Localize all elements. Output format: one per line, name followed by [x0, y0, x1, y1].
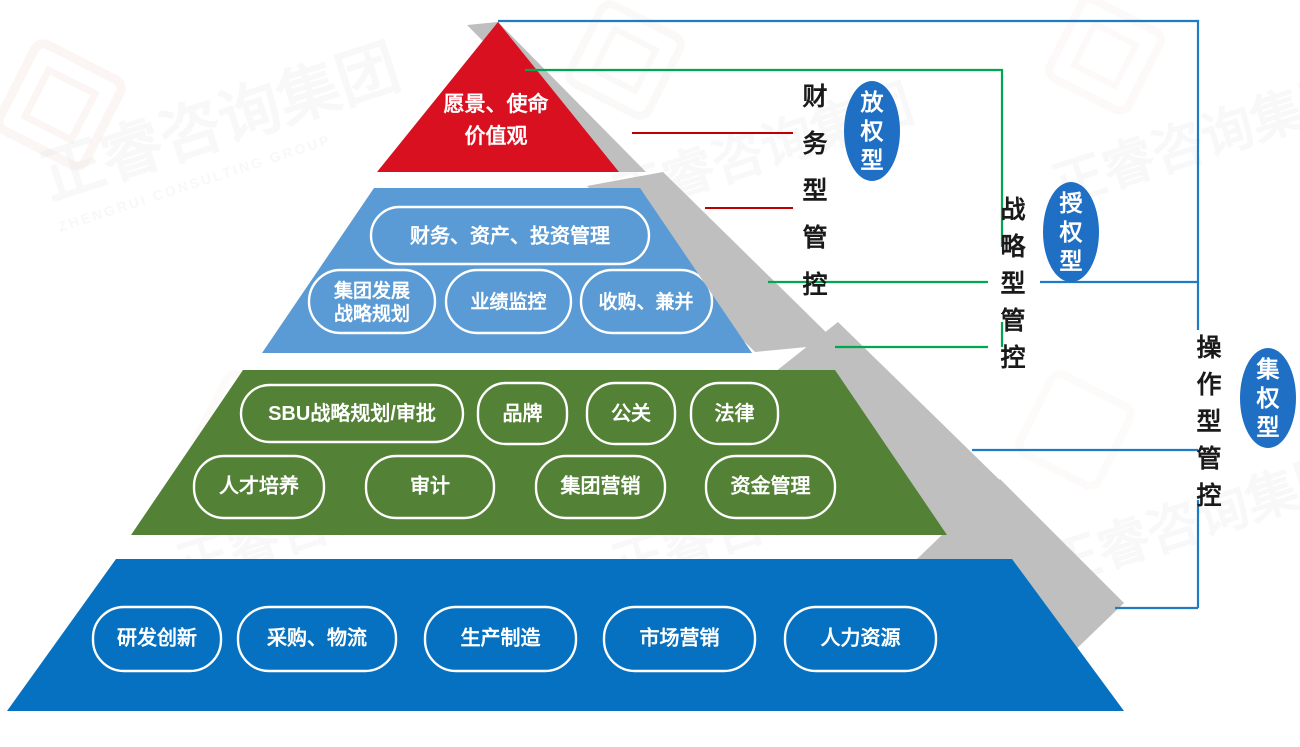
pill-tier2-0-label: 财务、资产、投资管理	[410, 223, 610, 247]
badge-delegation[interactable]: 放 权 型	[844, 81, 900, 181]
badge-delegation-char-2: 型	[861, 147, 884, 173]
watermark-brand-cn: 正睿咨询集团	[33, 33, 408, 214]
pill-tier2-2-label: 业绩监控	[470, 290, 546, 313]
pill-tier4-2-label: 生产制造	[461, 625, 542, 649]
tier-4[interactable]: 研发创新 采购、物流 生产制造 市场营销 人力资源	[7, 559, 1124, 711]
badge-centralization-char-0: 集	[1256, 356, 1281, 382]
badge-centralization-char-2: 型	[1257, 414, 1280, 440]
pill-tier4-3-label: 市场营销	[640, 625, 720, 649]
financial-control-char-3: 管	[802, 223, 827, 252]
label-operational-control: 操 作 型 管 控	[1196, 334, 1222, 510]
pyramid-management-control-diagram: 正睿咨询集团 ZHENGRUI CONSULTING GROUP 正睿咨询集团 …	[0, 0, 1300, 747]
badge-authorization-char-2: 型	[1060, 248, 1083, 274]
strategic-control-char-2: 型	[1000, 270, 1025, 298]
pill-tier3-2-label: 公关	[611, 401, 651, 425]
financial-control-char-2: 型	[802, 177, 827, 205]
pill-tier2-1-label-line1: 集团发展	[333, 279, 410, 302]
operational-control-char-2: 型	[1196, 408, 1221, 436]
pill-tier3-5-label: 审计	[410, 473, 450, 497]
operational-control-char-4: 控	[1196, 482, 1221, 510]
operational-control-char-3: 管	[1196, 444, 1221, 473]
financial-control-char-4: 控	[802, 271, 827, 299]
pill-tier3-0-label: SBU战略规划/审批	[268, 401, 436, 425]
pill-tier4-0-label: 研发创新	[117, 625, 197, 649]
label-strategic-control: 战 略 型 管 控	[1000, 196, 1026, 372]
pill-tier3-4-label: 人才培养	[219, 473, 299, 497]
badge-authorization[interactable]: 授 权 型	[1043, 182, 1099, 282]
strategic-control-char-4: 控	[1000, 344, 1025, 372]
badge-authorization-char-0: 授	[1060, 190, 1084, 216]
pill-tier3-3-label: 法律	[715, 401, 755, 425]
pill-tier4-4-label: 人力资源	[821, 625, 901, 649]
tier-apex-line-1: 愿景、使命	[444, 92, 550, 116]
operational-control-char-1: 作	[1196, 371, 1221, 399]
badge-centralization[interactable]: 集 权 型	[1240, 348, 1296, 448]
badge-delegation-char-0: 放	[860, 89, 885, 115]
badge-authorization-char-1: 权	[1059, 219, 1083, 245]
badge-delegation-char-1: 权	[860, 118, 884, 144]
strategic-control-char-0: 战	[1000, 196, 1025, 224]
tier-3[interactable]: SBU战略规划/审批 品牌 公关 法律 人才培养 审计 集团营销 资金管理	[131, 370, 947, 535]
pill-tier3-6-label: 集团营销	[560, 473, 641, 497]
tier-apex-line-2: 价值观	[465, 124, 528, 148]
pill-tier2-1-label-line2: 战略规划	[334, 302, 410, 325]
strategic-control-char-3: 管	[1000, 306, 1025, 335]
pill-tier3-7-label: 资金管理	[731, 473, 811, 497]
strategic-control-char-1: 略	[1000, 232, 1026, 261]
badge-centralization-char-1: 权	[1256, 385, 1280, 411]
financial-control-char-0: 财	[802, 83, 827, 111]
pill-tier3-1-label: 品牌	[503, 401, 543, 425]
financial-control-char-1: 务	[802, 130, 827, 158]
pill-tier4-1-label: 采购、物流	[267, 625, 367, 649]
pill-tier2-3-label: 收购、兼并	[598, 290, 693, 313]
diagram-canvas: 正睿咨询集团 ZHENGRUI CONSULTING GROUP 正睿咨询集团 …	[0, 0, 1300, 747]
operational-control-char-0: 操	[1196, 334, 1222, 362]
